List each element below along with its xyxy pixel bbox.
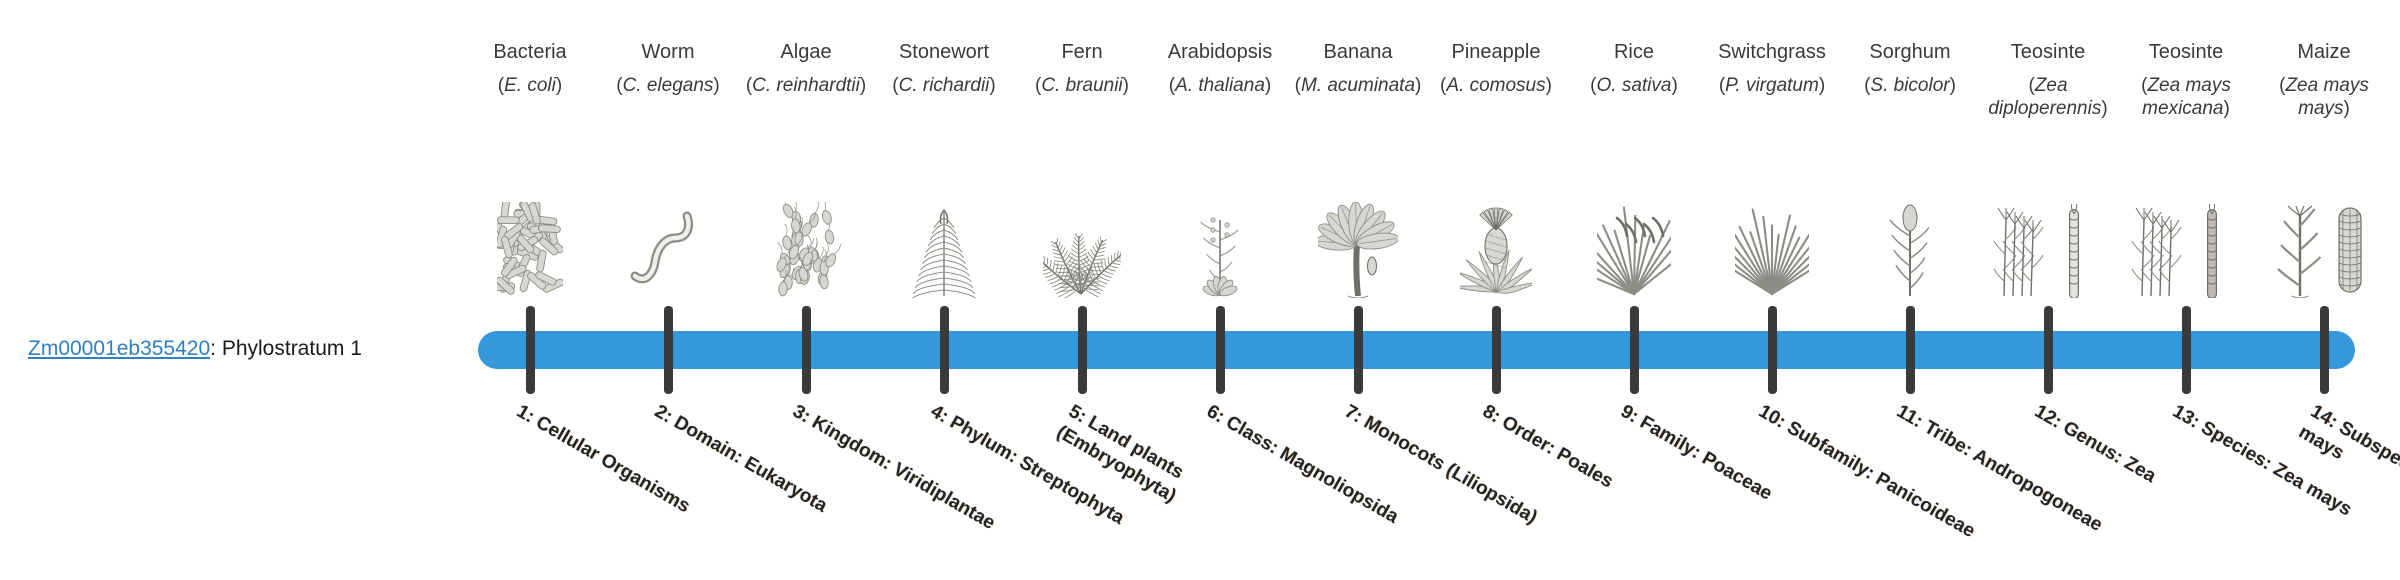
- phylostratigraphy-timeline: Zm00001eb355420: Phylostratum 1 Bacteria…: [0, 0, 2400, 580]
- timeline-tick: [526, 306, 535, 394]
- timeline-tick: [664, 306, 673, 394]
- timeline-tick: [1906, 306, 1915, 394]
- timeline-tick: [2320, 306, 2329, 394]
- gene-phylostratum-label: Zm00001eb355420: Phylostratum 1: [28, 336, 458, 362]
- gene-id-link[interactable]: Zm00001eb355420: [28, 337, 210, 360]
- timeline-tick: [1768, 306, 1777, 394]
- timeline-tick: [802, 306, 811, 394]
- timeline-tick: [1630, 306, 1639, 394]
- timeline-tick: [1492, 306, 1501, 394]
- phylostratum-value: Phylostratum 1: [222, 337, 362, 360]
- timeline-tick: [1354, 306, 1363, 394]
- timeline-tick: [940, 306, 949, 394]
- timeline-tick: [2182, 306, 2191, 394]
- gene-label-separator: :: [210, 337, 222, 360]
- timeline-tick: [1216, 306, 1225, 394]
- timeline-tick: [1078, 306, 1087, 394]
- timeline-tick: [2044, 306, 2053, 394]
- timeline-tick-list: [455, 0, 2375, 580]
